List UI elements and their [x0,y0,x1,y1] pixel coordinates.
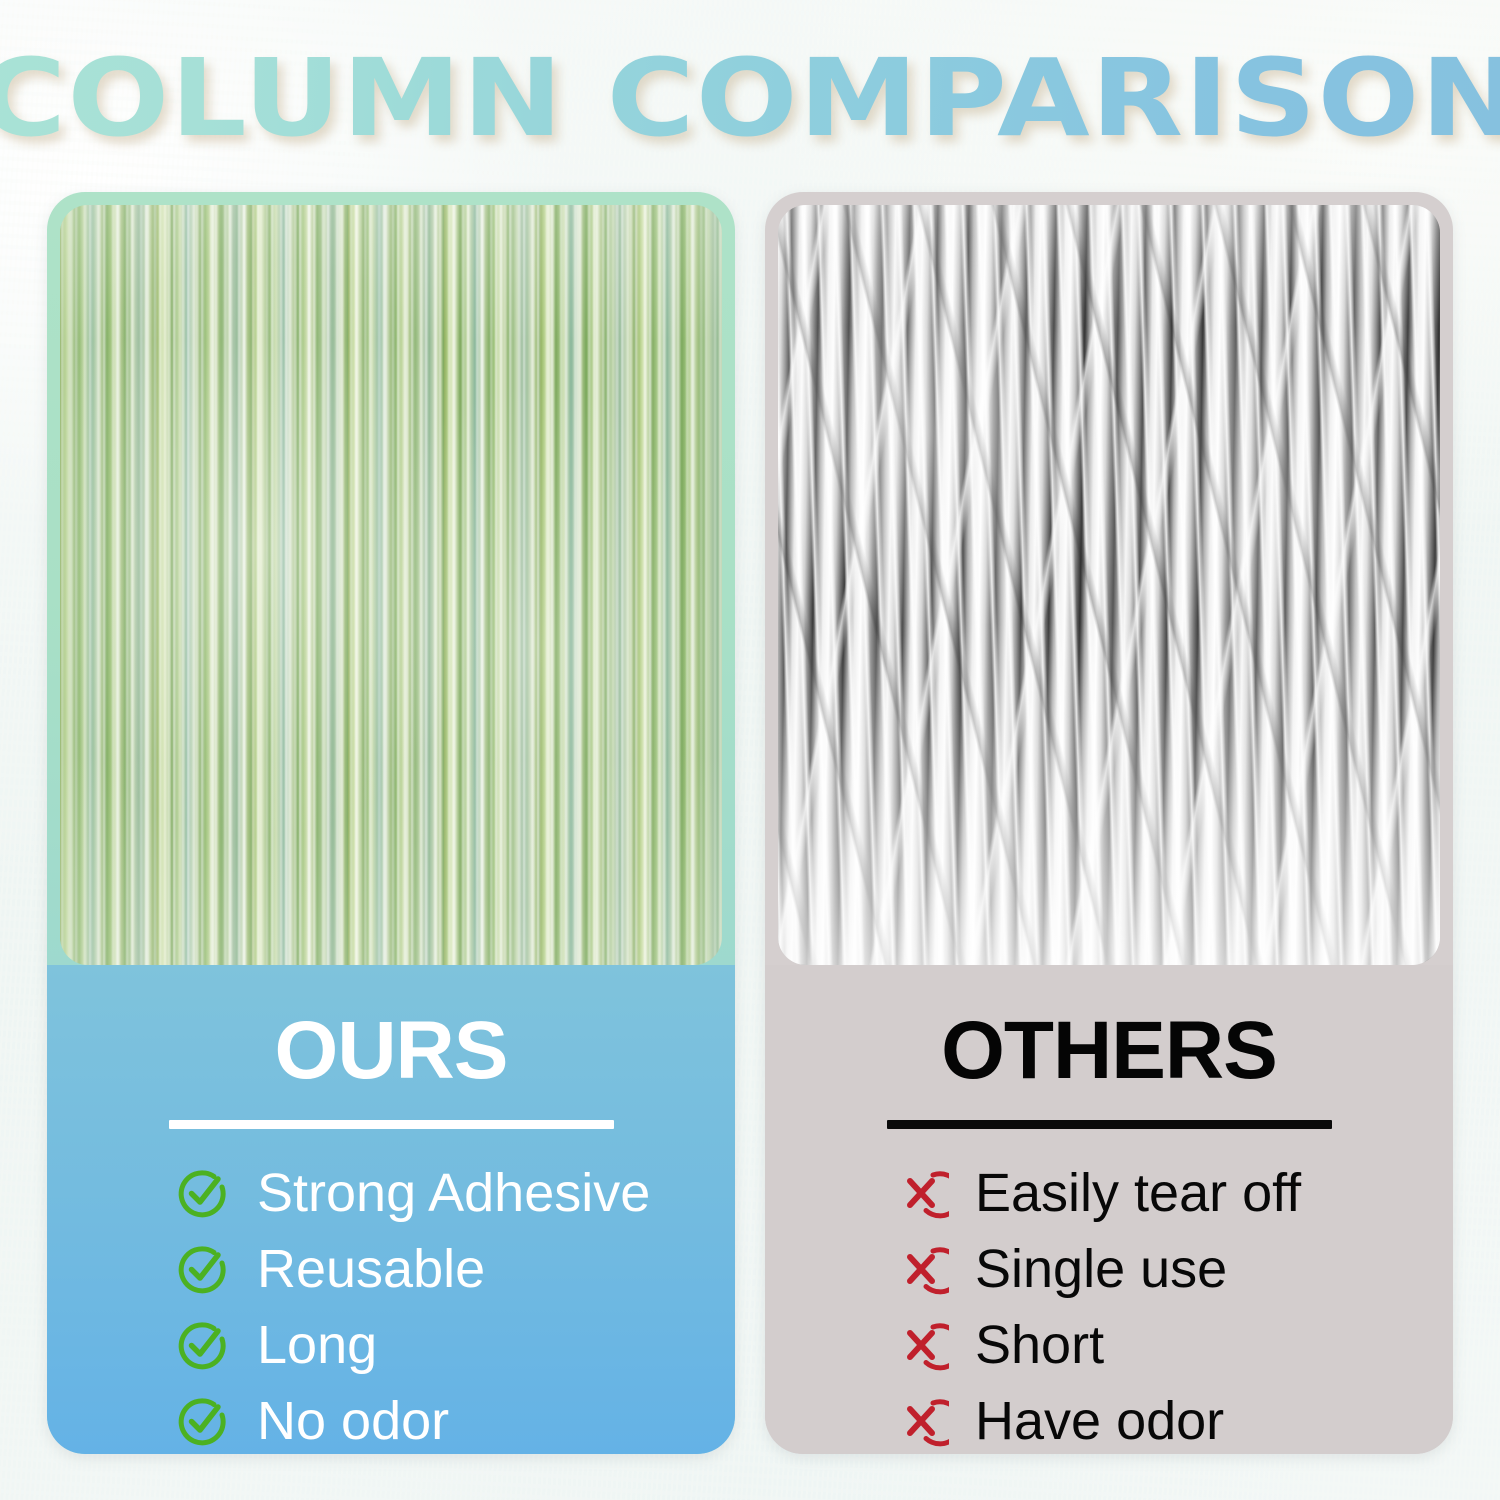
panel-heading-others: OTHERS [765,1010,1453,1092]
feature-label: No odor [257,1394,449,1448]
cross-circle-icon [893,1393,949,1449]
feature-list-ours: Strong Adhesive Reusable Long [47,1155,735,1454]
page-title: COLUMN COMPARISON [0,46,1500,153]
feature-label: Have odor [975,1394,1224,1448]
feature-label: Easily tear off [975,1166,1301,1220]
list-item: Easily tear off [765,1155,1453,1231]
feature-list-others: Easily tear off Single use [765,1155,1453,1454]
check-circle-icon [175,1241,231,1297]
feature-label: Single use [975,1242,1227,1296]
feature-label: Long [257,1318,377,1372]
cross-circle-icon [893,1241,949,1297]
feature-label: Reusable [257,1242,485,1296]
heading-divider-others [887,1120,1332,1129]
list-item: Have odor [765,1383,1453,1454]
details-others: OTHERS Easily tear off [765,965,1453,1454]
page-title-container: COLUMN COMPARISON [0,46,1500,153]
comparison-panels: OURS Strong Adhesive Reusable [47,192,1453,1454]
list-item: Short [765,1307,1453,1383]
feature-label: Short [975,1318,1104,1372]
feature-label: Strong Adhesive [257,1166,650,1220]
product-photo-others [778,205,1440,965]
check-circle-icon [175,1393,231,1449]
list-item: Reusable [47,1231,735,1307]
list-item: Strong Adhesive [47,1155,735,1231]
comparison-card-others: OTHERS Easily tear off [765,192,1453,1454]
cross-circle-icon [893,1317,949,1373]
list-item: Single use [765,1231,1453,1307]
check-circle-icon [175,1317,231,1373]
comparison-card-ours: OURS Strong Adhesive Reusable [47,192,735,1454]
cross-circle-icon [893,1165,949,1221]
product-photo-ours [60,205,722,965]
check-circle-icon [175,1165,231,1221]
list-item: No odor [47,1383,735,1454]
list-item: Long [47,1307,735,1383]
panel-heading-ours: OURS [47,1010,735,1092]
details-ours: OURS Strong Adhesive Reusable [47,965,735,1454]
heading-divider-ours [169,1120,614,1129]
